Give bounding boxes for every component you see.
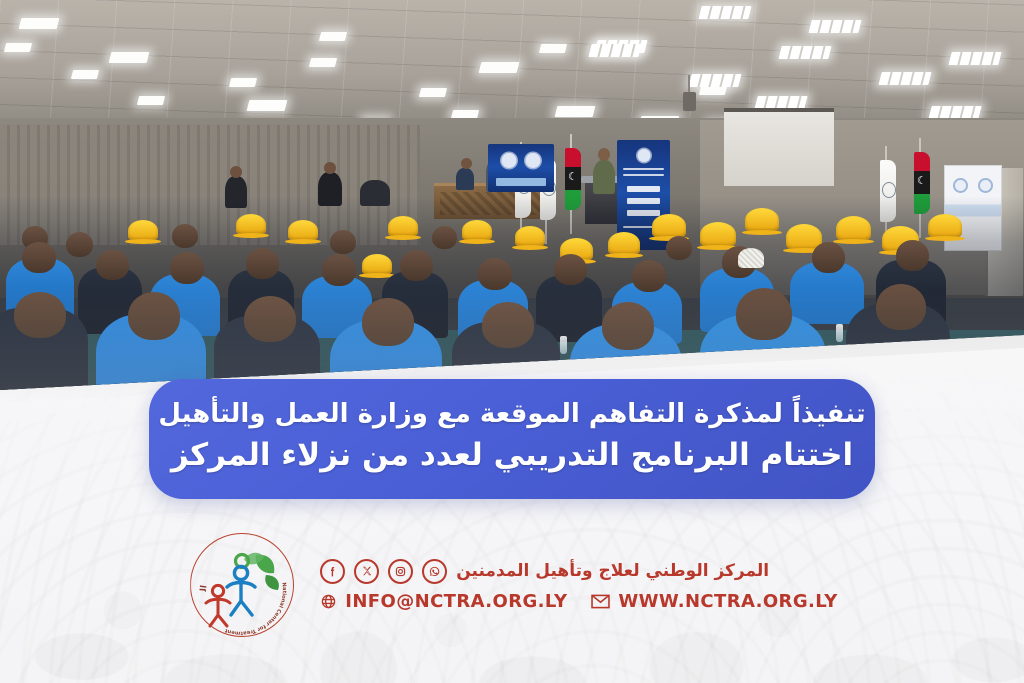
attendee-head — [666, 236, 692, 260]
water-bottle — [836, 324, 843, 342]
ceiling-light — [319, 32, 347, 41]
nctra-logo: المركز الوطني لعلاج وتأهيل المدمنين Nati… — [186, 529, 298, 641]
hard-hat — [928, 214, 962, 238]
attendee-head — [14, 292, 66, 338]
hard-hat — [362, 254, 392, 275]
envelope-icon — [591, 594, 610, 609]
ceiling-projector-icon — [683, 92, 696, 111]
contact-row: INFO@NCTRA.ORG.LY WWW.NCTRA.ORG.LY — [320, 591, 837, 612]
ceiling-light — [539, 44, 567, 53]
ceiling-light — [808, 20, 861, 33]
whatsapp-icon[interactable] — [422, 559, 447, 584]
ceiling-light — [688, 74, 741, 87]
hard-hat — [236, 214, 266, 235]
logo-ring — [190, 533, 294, 637]
attendee-head — [876, 284, 926, 330]
hard-hat — [288, 220, 318, 241]
ceiling-light — [479, 62, 520, 73]
attendee-head — [244, 296, 296, 342]
ceiling-light — [229, 78, 257, 87]
attendee-head — [322, 254, 356, 286]
seated-official — [456, 168, 474, 190]
hard-hat — [462, 220, 492, 241]
attendee-head — [602, 302, 654, 350]
seated-official-head — [461, 158, 472, 169]
white-prayer-cap — [738, 248, 764, 268]
ceiling-light — [419, 88, 447, 97]
attendee-head — [170, 252, 204, 284]
attendee-head — [812, 242, 845, 273]
attendee-head — [22, 242, 56, 273]
hard-hat — [700, 222, 736, 247]
x-twitter-icon[interactable] — [354, 559, 379, 584]
attendee-head — [482, 302, 534, 348]
attendee-head — [172, 224, 198, 248]
photo-scene — [0, 0, 1024, 400]
ceiling-light — [698, 6, 751, 19]
hard-hat — [515, 226, 545, 247]
ceiling-light — [137, 96, 165, 105]
crew-member-head — [324, 162, 336, 174]
ceiling-light — [699, 86, 727, 95]
website-text[interactable]: WWW.NCTRA.ORG.LY — [618, 591, 837, 612]
facebook-icon[interactable] — [320, 559, 345, 584]
speaker-body — [593, 160, 615, 194]
attendee-head — [736, 288, 792, 340]
ceiling-light — [19, 18, 60, 29]
center-name-arabic: المركز الوطني لعلاج وتأهيل المدمنين — [456, 561, 769, 581]
ceiling-light — [109, 52, 150, 63]
ceiling-light — [555, 106, 596, 117]
ceiling-light — [778, 46, 831, 59]
headline-banner: تنفيذاً لمذكرة التفاهم الموقعة مع وزارة … — [149, 379, 875, 499]
footer-bar: المركز الوطني لعلاج وتأهيل المدمنين Nati… — [0, 520, 1024, 650]
ceiling-light — [948, 52, 1001, 65]
ceiling-light — [247, 100, 288, 111]
projection-screen — [724, 108, 834, 186]
attendee-head — [330, 230, 356, 254]
ceiling-light — [4, 43, 32, 52]
ceiling-light — [878, 72, 931, 85]
ceiling-light — [588, 44, 641, 57]
audience-area — [0, 196, 1024, 400]
instagram-icon[interactable] — [388, 559, 413, 584]
email-text[interactable]: INFO@NCTRA.ORG.LY — [345, 591, 567, 612]
event-photo — [0, 0, 1024, 400]
hard-hat — [608, 232, 640, 255]
ceiling-light — [309, 58, 337, 67]
hard-hat — [388, 216, 418, 237]
globe-icon — [320, 593, 337, 610]
contact-block: المركز الوطني لعلاج وتأهيل المدمنين INFO… — [320, 559, 837, 612]
attendee-head — [432, 226, 457, 249]
rollup-banner-left-top — [488, 144, 554, 192]
headline-line-1: تنفيذاً لمذكرة التفاهم الموقعة مع وزارة … — [158, 397, 865, 432]
attendee-head — [246, 248, 279, 279]
hard-hat — [745, 208, 779, 232]
attendee-head — [896, 240, 929, 271]
water-bottle — [560, 336, 567, 354]
poster-canvas: تنفيذاً لمذكرة التفاهم الموقعة مع وزارة … — [0, 0, 1024, 683]
attendee-head — [632, 260, 666, 292]
attendee-head — [554, 254, 587, 285]
social-row: المركز الوطني لعلاج وتأهيل المدمنين — [320, 559, 837, 584]
attendee-head — [478, 258, 512, 290]
attendee-head — [128, 292, 180, 340]
ceiling-light — [71, 70, 99, 79]
headline-line-2: اختتام البرنامج التدريبي لعدد من نزلاء ا… — [171, 434, 853, 477]
hard-hat — [652, 214, 686, 238]
attendee-head — [400, 250, 433, 281]
attendee-head — [66, 232, 93, 257]
speaker-head — [598, 148, 610, 161]
attendee-head — [362, 298, 414, 346]
attendee-head — [96, 250, 129, 280]
hard-hat — [128, 220, 158, 241]
cameraman-head — [230, 166, 242, 178]
hard-hat — [836, 216, 871, 241]
